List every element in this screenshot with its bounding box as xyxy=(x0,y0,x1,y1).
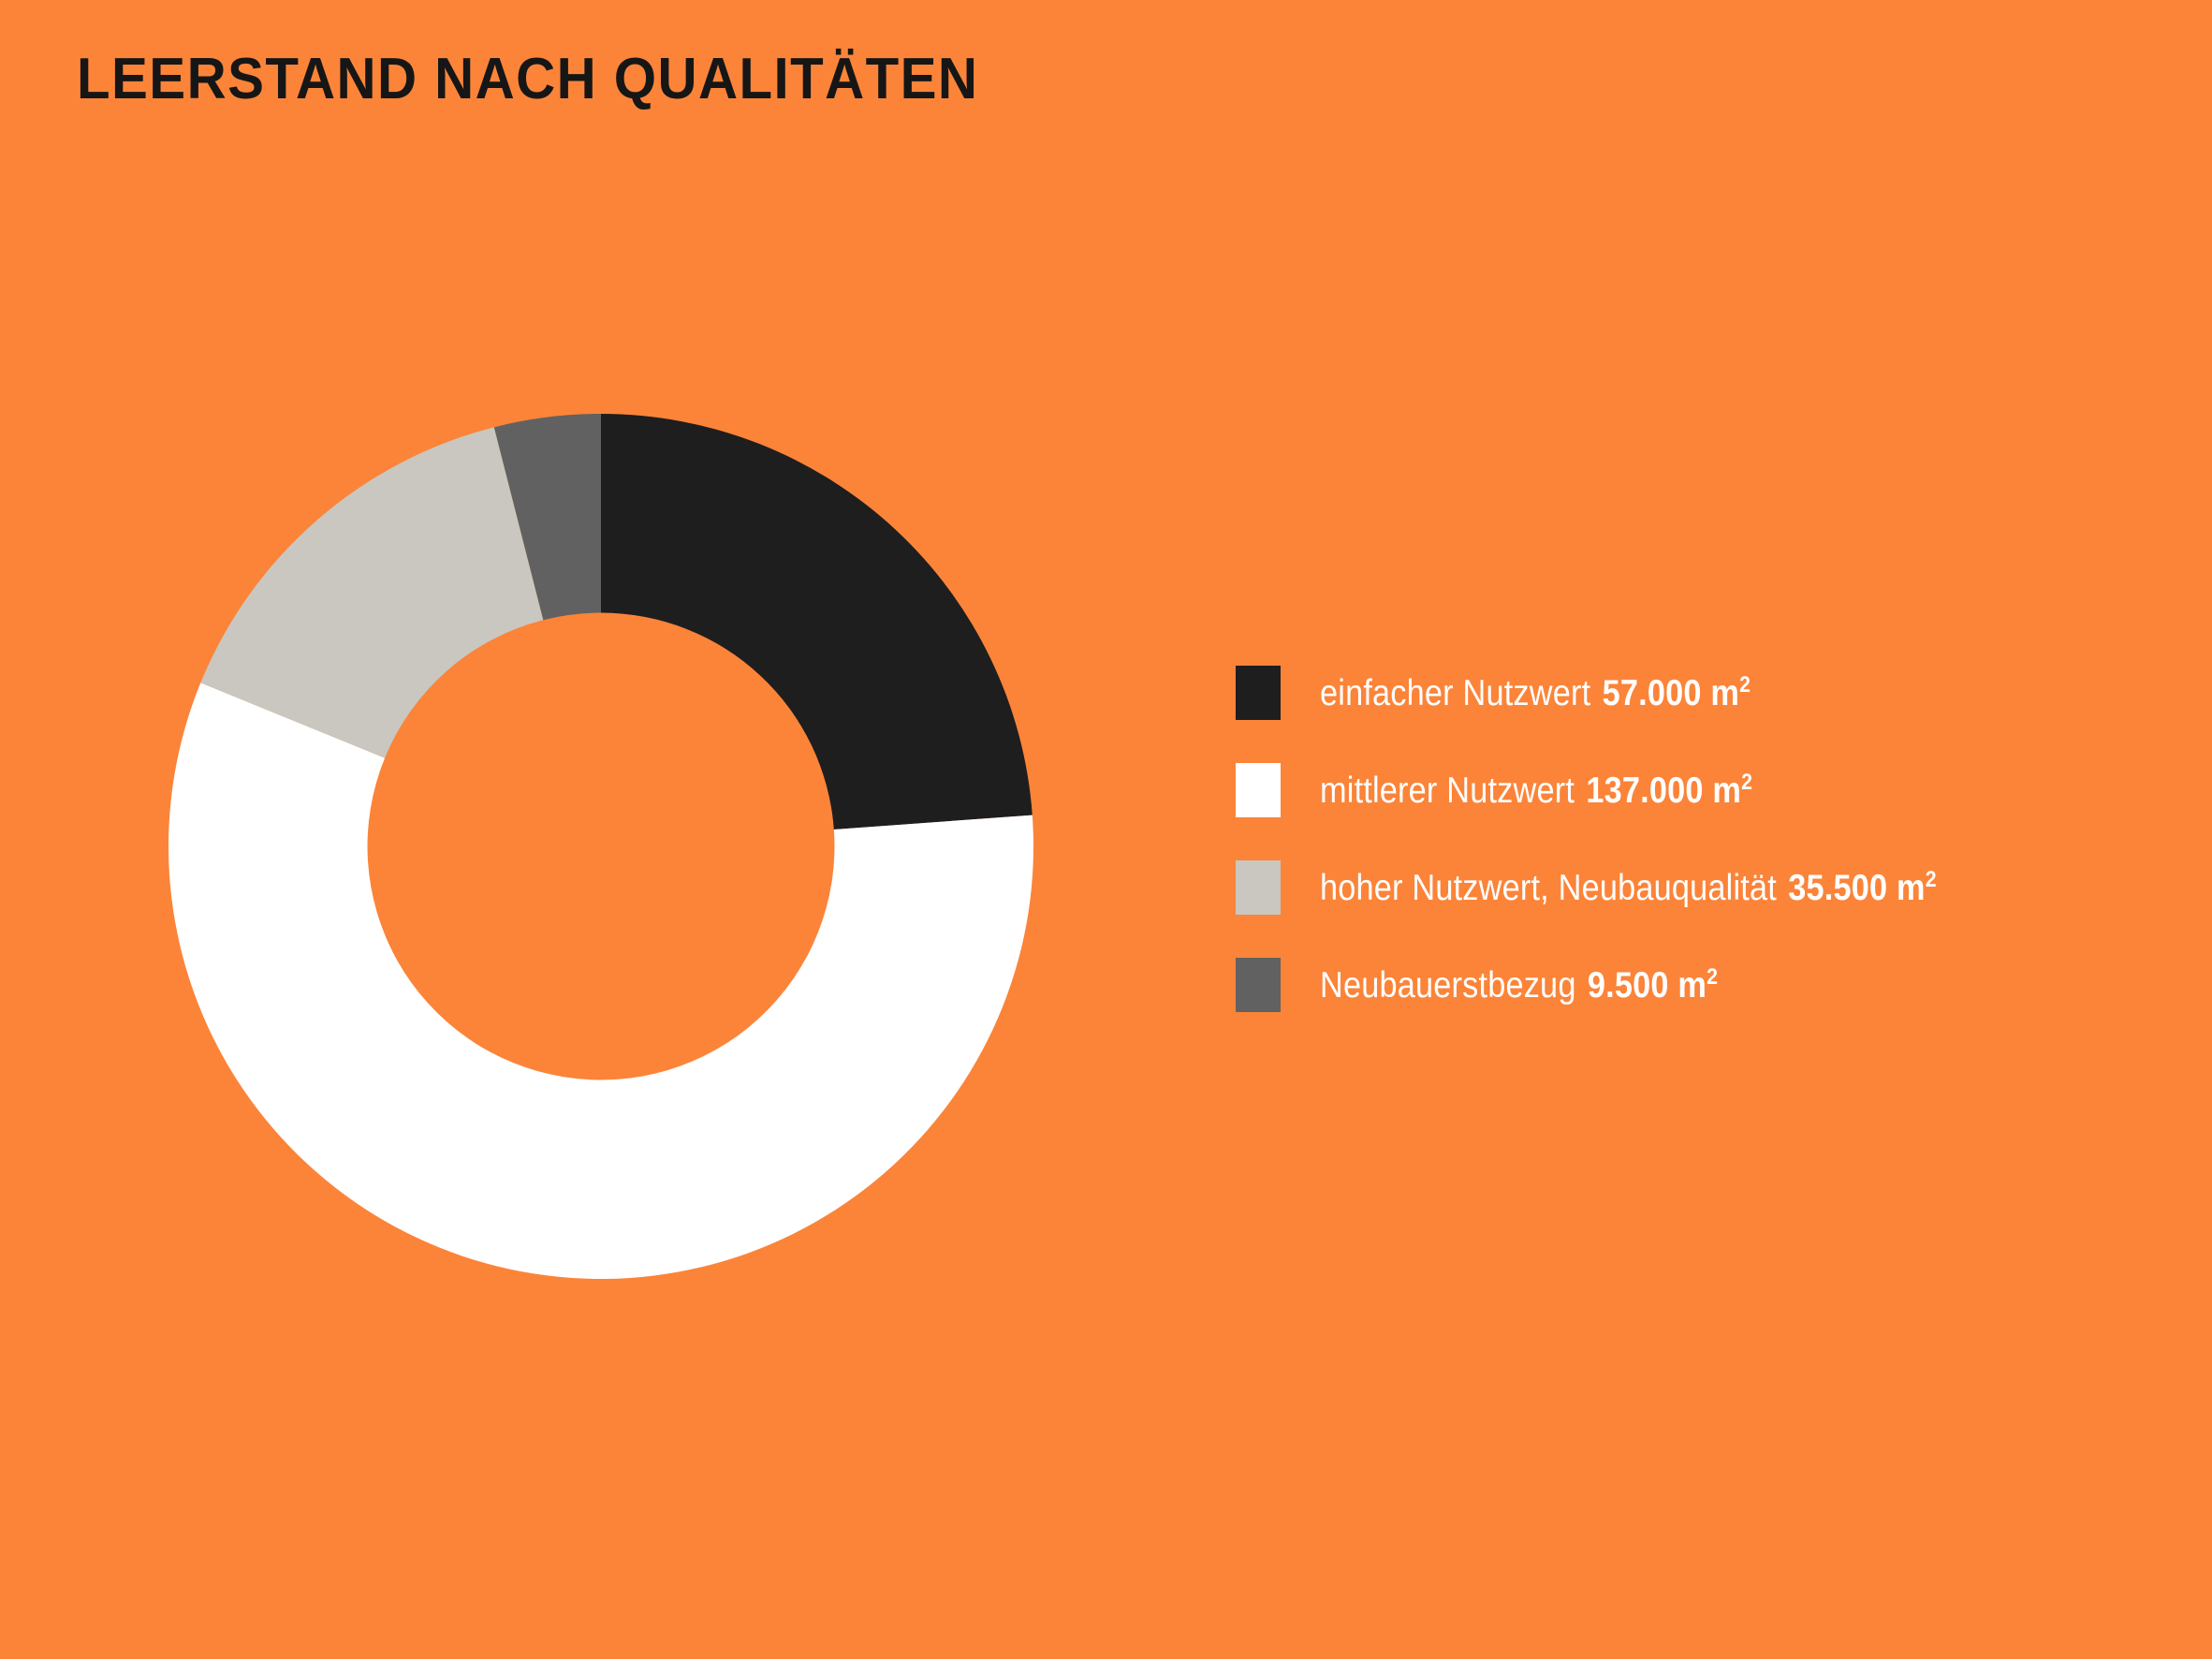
legend-item-unit-exponent: 2 xyxy=(1739,672,1751,697)
legend-item-label: mittlerer Nutzwert xyxy=(1320,771,1575,811)
donut-chart-svg xyxy=(168,414,1033,1279)
legend-swatch xyxy=(1236,958,1281,1012)
legend-item-number: 137.000 xyxy=(1586,771,1703,811)
chart-legend: einfacher Nutzwert57.000 m2mittlerer Nut… xyxy=(1236,644,2172,1034)
legend-item-label: hoher Nutzwert, Neubauqualität xyxy=(1320,868,1777,908)
chart-canvas: LEERSTAND NACH QUALITÄTEN einfacher Nutz… xyxy=(0,0,2212,1659)
legend-item-unit: m xyxy=(1669,965,1707,1006)
donut-slice xyxy=(601,414,1033,829)
donut-chart xyxy=(168,414,1033,1279)
legend-swatch xyxy=(1236,666,1281,720)
legend-item[interactable]: mittlerer Nutzwert137.000 m2 xyxy=(1236,741,2172,839)
legend-item-unit: m xyxy=(1702,673,1739,713)
legend-text: Neubauerstbezug9.500 m2 xyxy=(1320,967,1718,1004)
legend-item-value: 57.000 m2 xyxy=(1603,673,1751,713)
legend-item-value: 137.000 m2 xyxy=(1586,771,1752,811)
legend-swatch xyxy=(1236,763,1281,817)
legend-text: mittlerer Nutzwert137.000 m2 xyxy=(1320,772,1752,809)
legend-item-label: einfacher Nutzwert xyxy=(1320,673,1590,713)
legend-item-unit-exponent: 2 xyxy=(1926,867,1937,892)
legend-text: einfacher Nutzwert57.000 m2 xyxy=(1320,675,1751,712)
legend-item-unit-exponent: 2 xyxy=(1707,964,1718,990)
page-title: LEERSTAND NACH QUALITÄTEN xyxy=(77,49,978,110)
legend-item-unit: m xyxy=(1704,771,1741,811)
legend-item-value: 9.500 m2 xyxy=(1588,965,1718,1006)
legend-item-value: 35.500 m2 xyxy=(1788,868,1936,908)
legend-text: hoher Nutzwert, Neubauqualität35.500 m2 xyxy=(1320,870,1937,906)
legend-item[interactable]: einfacher Nutzwert57.000 m2 xyxy=(1236,644,2172,741)
legend-item[interactable]: Neubauerstbezug9.500 m2 xyxy=(1236,936,2172,1034)
legend-item-unit: m xyxy=(1887,868,1925,908)
legend-item-number: 57.000 xyxy=(1603,673,1702,713)
donut-slice-group xyxy=(168,414,1033,1279)
legend-item[interactable]: hoher Nutzwert, Neubauqualität35.500 m2 xyxy=(1236,839,2172,936)
legend-item-unit-exponent: 2 xyxy=(1741,770,1752,795)
legend-item-number: 9.500 xyxy=(1588,965,1669,1006)
legend-swatch xyxy=(1236,860,1281,915)
legend-item-number: 35.500 xyxy=(1788,868,1887,908)
legend-item-label: Neubauerstbezug xyxy=(1320,965,1576,1006)
